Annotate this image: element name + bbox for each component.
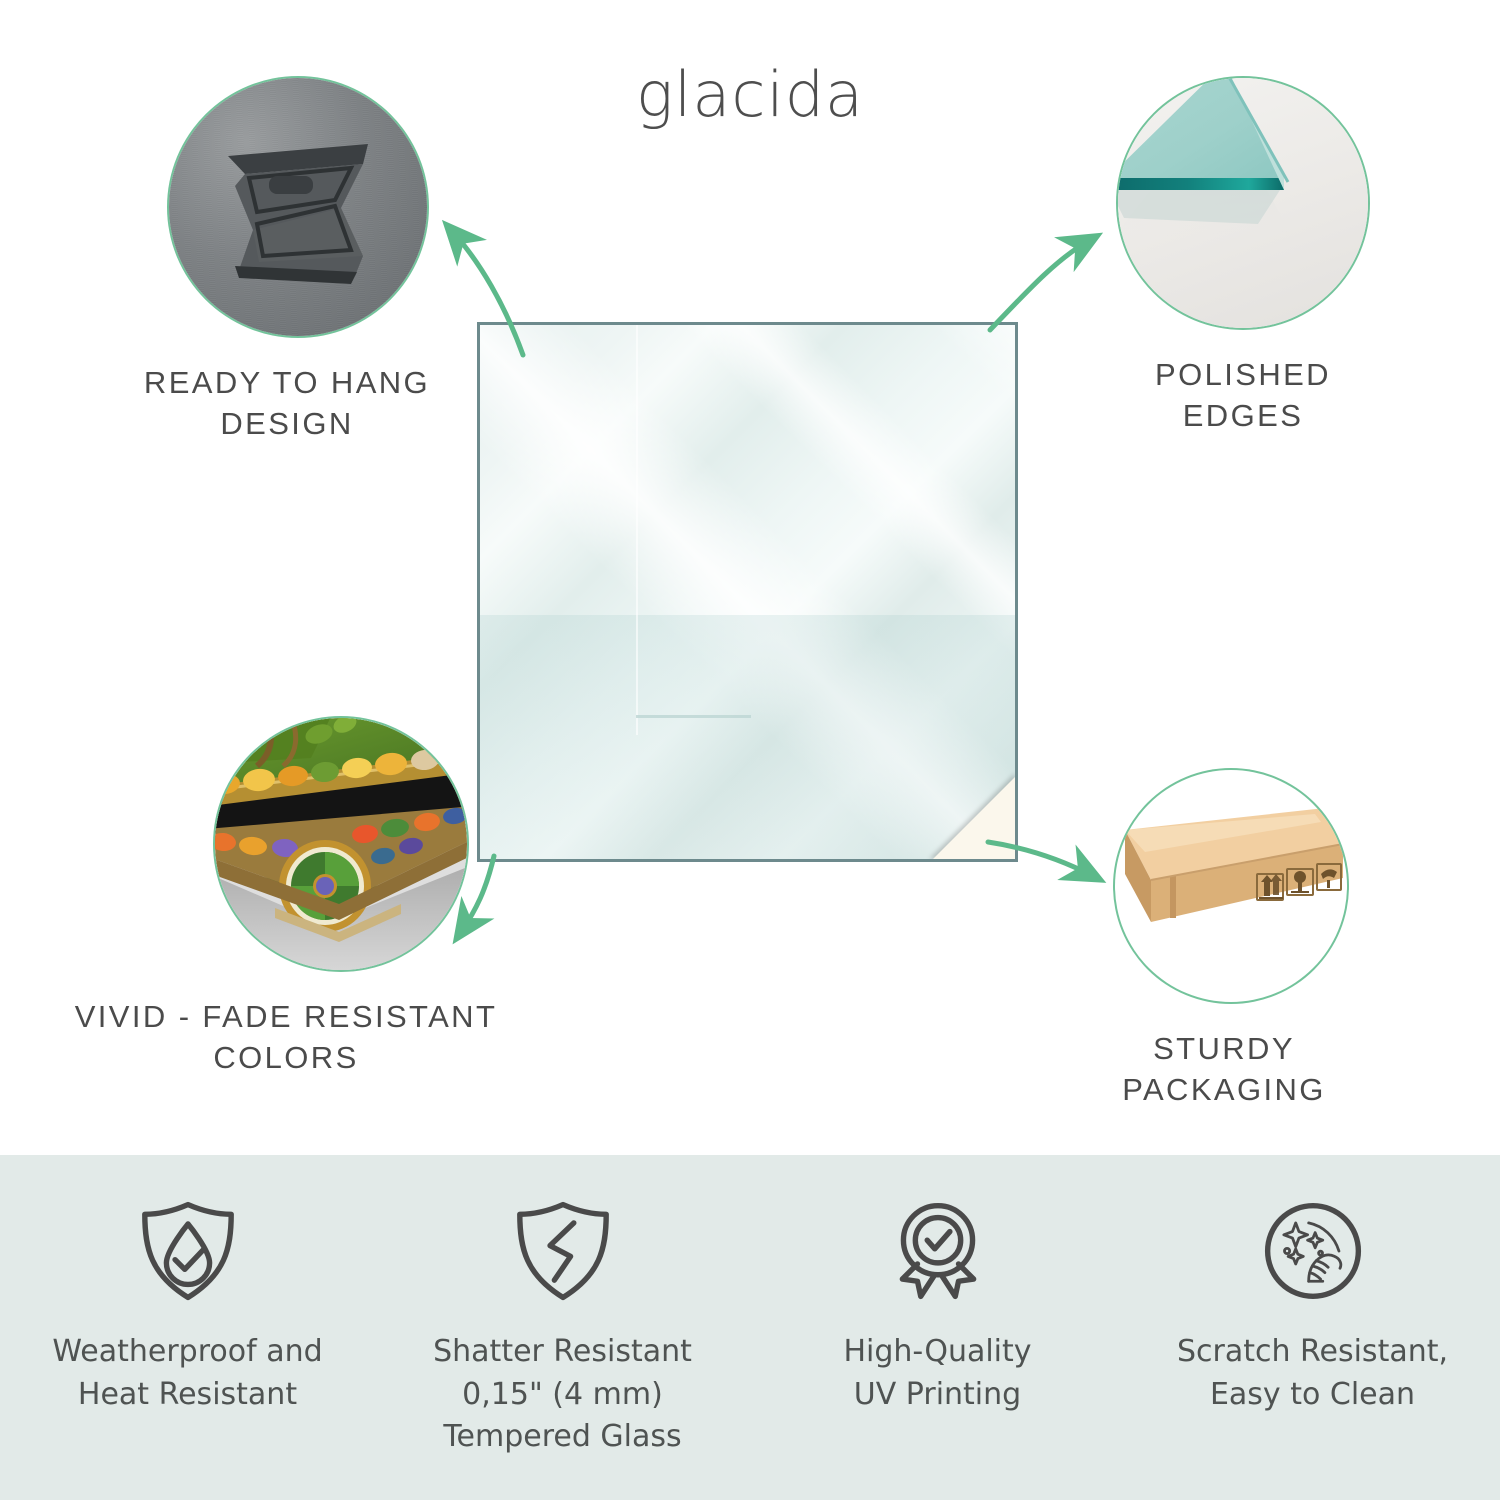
- cardboard-box-photo-icon: [1115, 770, 1347, 1002]
- feature-bar-item-weatherproof: Weatherproof and Heat Resistant: [0, 1155, 375, 1500]
- feature-bar-text-uv-printing: High-Quality UV Printing: [843, 1331, 1031, 1416]
- glass-reflection-bar: [636, 322, 638, 735]
- cardboard-box-shape-icon: [1115, 770, 1347, 1002]
- feature-bar-text-scratch-resistant: Scratch Resistant, Easy to Clean: [1177, 1331, 1448, 1416]
- feature-ready-to-hang: READY TO HANG DESIGN: [158, 78, 437, 444]
- stained-glass-art-photo-icon: [215, 718, 467, 970]
- feature-label-vivid-colors: VIVID - FADE RESISTANT COLORS: [51, 996, 521, 1078]
- feature-bar-item-shatter-resistant: Shatter Resistant 0,15" (4 mm) Tempered …: [375, 1155, 750, 1500]
- stained-glass-art-shape-icon: [215, 718, 467, 970]
- award-ribbon-check-icon: [884, 1197, 992, 1305]
- glass-edge-photo-icon: [1118, 78, 1368, 328]
- sparkle-wipe-hand-icon: [1259, 1197, 1367, 1305]
- glass-edge-shape-icon: [1118, 78, 1368, 328]
- feature-bar-item-scratch-resistant: Scratch Resistant, Easy to Clean: [1125, 1155, 1500, 1500]
- tempered-glass-panel: [477, 322, 1018, 862]
- feature-vivid-colors: VIVID - FADE RESISTANT COLORS: [160, 718, 521, 1078]
- hanging-bracket-photo-icon: [169, 78, 427, 336]
- feature-polished-edges: POLISHED EDGES: [1118, 78, 1368, 436]
- feature-label-ready-to-hang: READY TO HANG DESIGN: [137, 362, 437, 444]
- glass-reflection-bar: [636, 715, 751, 718]
- shield-lightning-icon: [509, 1197, 617, 1305]
- protective-film-peel-corner: [931, 775, 1017, 861]
- feature-bar-item-uv-printing: High-Quality UV Printing: [750, 1155, 1125, 1500]
- shield-droplet-check-icon: [134, 1197, 242, 1305]
- feature-label-sturdy-packaging: STURDY PACKAGING: [1094, 1028, 1354, 1110]
- feature-bar-text-shatter-resistant: Shatter Resistant 0,15" (4 mm) Tempered …: [433, 1331, 692, 1459]
- bracket-shape-icon: [223, 138, 373, 286]
- arrow-to-polished-edges: [990, 240, 1090, 330]
- feature-label-polished-edges: POLISHED EDGES: [1118, 354, 1368, 436]
- feature-sturdy-packaging: STURDY PACKAGING: [1108, 770, 1354, 1110]
- feature-bar-text-weatherproof: Weatherproof and Heat Resistant: [52, 1331, 322, 1416]
- feature-bar: Weatherproof and Heat Resistant Shatter …: [0, 1155, 1500, 1500]
